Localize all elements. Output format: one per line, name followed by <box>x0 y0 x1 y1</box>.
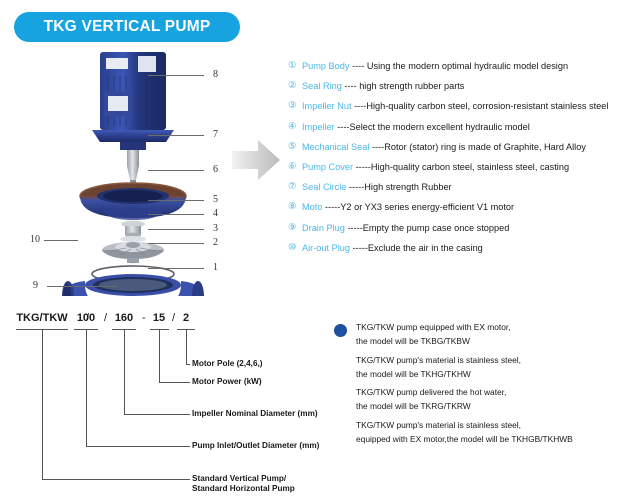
legend-part-name: Seal Ring <box>302 81 342 91</box>
legend-item-3: ③ Impeller Nut ----High-quality carbon s… <box>288 100 614 112</box>
page-title: TKG VERTICAL PUMP <box>14 12 240 42</box>
legend-part-name: Drain Plug <box>302 223 345 233</box>
code-separator-3: - <box>142 312 146 324</box>
note-line: TKG/TKW pump equipped with EX motor, <box>356 322 614 332</box>
leader-drop-line <box>124 329 125 414</box>
legend-number: ⑨ <box>288 222 302 234</box>
callout-6: 6 <box>140 164 218 176</box>
legend-part-name: Mechanical Seal <box>302 142 369 152</box>
leader-drop-line <box>186 329 187 364</box>
legend-item-10: ⑩ Air-out Plug -----Exclude the air in t… <box>288 242 614 254</box>
legend-text: Air-out Plug -----Exclude the air in the… <box>302 242 483 254</box>
legend-item-6: ⑥ Pump Cover -----High-quality carbon st… <box>288 161 614 173</box>
callout-9: 9 <box>33 280 121 292</box>
callout-1: 1 <box>140 262 218 274</box>
legend-description: ---- high strength rubber parts <box>344 81 464 91</box>
legend-description: ---- Using the modern optimal hydraulic … <box>352 61 568 71</box>
legend-description: ----Rotor (stator) ring is made of Graph… <box>372 142 586 152</box>
note-line: the model will be TKBG/TKBW <box>356 336 614 346</box>
legend-item-2: ② Seal Ring ---- high strength rubber pa… <box>288 80 614 92</box>
callout-number: 5 <box>213 194 218 205</box>
leader-horiz-line <box>186 364 190 365</box>
code-label-standard-pump: Standard Vertical Pump/ Standard Horizon… <box>192 474 295 494</box>
legend-part-name: Seal Circle <box>302 182 346 192</box>
callout-number: 10 <box>30 234 40 245</box>
callout-number: 9 <box>33 280 38 291</box>
code-label-motor-power: Motor Power (kW) <box>192 377 262 387</box>
callout-3: 3 <box>140 223 218 235</box>
leader-horiz-line <box>86 446 190 447</box>
leader-drop-line <box>42 329 43 479</box>
legend-item-1: ① Pump Body ---- Using the modern optima… <box>288 60 614 72</box>
callout-8: 8 <box>140 69 218 81</box>
legend-item-7: ⑦ Seal Circle -----High strength Rubber <box>288 181 614 193</box>
legend-text: Pump Body ---- Using the modern optimal … <box>302 60 568 72</box>
code-label-inlet-diameter: Pump Inlet/Outlet Diameter (mm) <box>192 441 319 451</box>
parts-legend: ① Pump Body ---- Using the modern optima… <box>288 60 614 262</box>
code-segment-series: TKG/TKW <box>14 312 70 324</box>
callout-5: 5 <box>140 194 218 206</box>
legend-description: -----High-quality carbon steel, stainles… <box>356 162 569 172</box>
note-line: equipped with EX motor,the model will be… <box>356 434 614 444</box>
legend-part-name: Impeller <box>302 122 335 132</box>
legend-text: Impeller ----Select the modern excellent… <box>302 121 530 133</box>
callout-number: 1 <box>213 262 218 273</box>
legend-number: ⑩ <box>288 242 302 254</box>
code-segment-power: 15 <box>148 312 170 324</box>
legend-number: ⑧ <box>288 201 302 213</box>
note-line: the model will be TKRG/TKRW <box>356 401 614 411</box>
note-line: TKG/TKW pump's material is stainless ste… <box>356 420 614 430</box>
callout-7: 7 <box>140 129 218 141</box>
legend-part-name: Air-out Plug <box>302 243 350 253</box>
legend-text: Moto -----Y2 or YX3 series energy-effici… <box>302 201 514 213</box>
legend-description: ----High-quality carbon steel, corrosion… <box>354 101 608 111</box>
legend-description: -----High strength Rubber <box>349 182 452 192</box>
legend-part-name: Impeller Nut <box>302 101 352 111</box>
legend-text: Pump Cover -----High-quality carbon stee… <box>302 161 569 173</box>
legend-item-9: ⑨ Drain Plug -----Empty the pump case on… <box>288 222 614 234</box>
note-line: TKG/TKW pump delivered the hot water, <box>356 387 614 397</box>
leader-horiz-line <box>124 414 190 415</box>
legend-description: -----Y2 or YX3 series energy-efficient V… <box>325 202 514 212</box>
legend-part-name: Moto <box>302 202 322 212</box>
code-separator-4: / <box>172 312 175 324</box>
callout-number: 8 <box>213 69 218 80</box>
code-segment-pole: 2 <box>178 312 194 324</box>
legend-text: Seal Ring ---- high strength rubber part… <box>302 80 464 92</box>
legend-item-5: ⑤ Mechanical Seal ----Rotor (stator) rin… <box>288 141 614 153</box>
legend-number: ① <box>288 60 302 72</box>
code-separator-2: / <box>104 312 107 324</box>
impeller-nut-part <box>127 258 139 263</box>
right-arrow-icon <box>230 136 282 184</box>
legend-number: ⑥ <box>288 161 302 173</box>
legend-description: -----Empty the pump case once stopped <box>347 223 509 233</box>
model-variant-notes: TKG/TKW pump equipped with EX motor, the… <box>334 322 614 452</box>
code-label-standard-pump-line1: Standard Vertical Pump/ <box>192 474 286 483</box>
callout-10: 10 <box>30 234 80 246</box>
legend-part-name: Pump Cover <box>302 162 353 172</box>
leader-drop-line <box>86 329 87 446</box>
legend-number: ⑦ <box>288 181 302 193</box>
shaft-part <box>127 150 139 186</box>
legend-part-name: Pump Body <box>302 61 350 71</box>
code-label-impeller-diameter: Impeller Nominal Diameter (mm) <box>192 409 318 419</box>
bullet-icon <box>334 324 347 337</box>
legend-item-8: ⑧ Moto -----Y2 or YX3 series energy-effi… <box>288 201 614 213</box>
legend-text: Drain Plug -----Empty the pump case once… <box>302 222 509 234</box>
code-segment-impeller: 160 <box>110 312 138 324</box>
code-label-standard-pump-line2: Standard Horizontal Pump <box>192 484 295 493</box>
legend-text: Seal Circle -----High strength Rubber <box>302 181 452 193</box>
callout-number: 2 <box>213 237 218 248</box>
legend-description: ----Select the modern excellent hydrauli… <box>337 122 530 132</box>
legend-text: Mechanical Seal ----Rotor (stator) ring … <box>302 141 586 153</box>
callout-4: 4 <box>140 208 218 220</box>
callout-number: 3 <box>213 223 218 234</box>
callout-number: 6 <box>213 164 218 175</box>
callout-number: 7 <box>213 129 218 140</box>
leader-horiz-line <box>42 479 190 480</box>
note-line: TKG/TKW pump's material is stainless ste… <box>356 355 614 365</box>
leader-drop-line <box>159 329 160 382</box>
legend-number: ② <box>288 80 302 92</box>
legend-text: Impeller Nut ----High-quality carbon ste… <box>302 100 608 112</box>
model-code-breakdown: TKG/TKW / 100 / 160 - 15 / 2 Motor Pole … <box>12 312 312 492</box>
legend-number: ③ <box>288 100 302 112</box>
legend-item-4: ④ Impeller ----Select the modern excelle… <box>288 121 614 133</box>
code-segment-inlet: 100 <box>72 312 100 324</box>
page-title-text: TKG VERTICAL PUMP <box>44 18 211 36</box>
legend-number: ④ <box>288 121 302 133</box>
legend-description: -----Exclude the air in the casing <box>353 243 483 253</box>
product-spec-sheet: TKG VERTICAL PUMP <box>0 0 617 500</box>
code-label-motor-pole: Motor Pole (2,4,6,) <box>192 359 263 369</box>
note-line: the model will be TKHG/TKHW <box>356 369 614 379</box>
callout-number: 4 <box>213 208 218 219</box>
callout-2: 2 <box>140 237 218 249</box>
leader-horiz-line <box>159 382 190 383</box>
legend-number: ⑤ <box>288 141 302 153</box>
